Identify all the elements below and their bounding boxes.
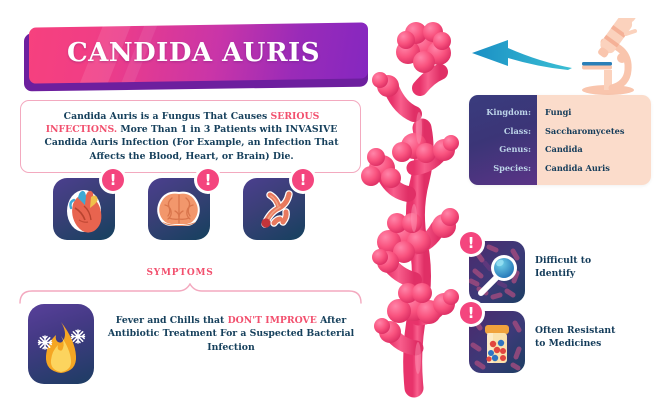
symptom-text-a: Fever and Chills that: [116, 315, 228, 326]
taxonomy-values-column: Fungi Saccharomycetes Candida Candida Au…: [537, 95, 651, 185]
symptom-row: Fever and Chills that DON'T IMPROVE Afte…: [28, 300, 358, 395]
description-box: Candida Auris is a Fungus That Causes SE…: [20, 100, 361, 173]
curved-arrow-left-icon: [468, 36, 574, 70]
alert-badge-resistant: !: [460, 302, 482, 324]
page-title: CANDIDA AURIS: [24, 25, 363, 81]
feature-resistant-line1: Often Resistant: [535, 325, 653, 338]
microscope-icon: [560, 18, 650, 96]
feature-identify-text: Difficult to Identify: [535, 255, 653, 280]
symptoms-label: SYMPTOMS: [130, 268, 230, 278]
taxonomy-table: Kingdom: Class: Genus: Species: Fungi Sa…: [469, 95, 651, 185]
taxonomy-keys-column: Kingdom: Class: Genus: Species:: [469, 95, 537, 185]
magnifier-card[interactable]: !: [469, 241, 525, 303]
feature-difficult-to-identify: ! Difficult to Identify: [469, 241, 654, 303]
feature-resistant-text: Often Resistant to Medicines: [535, 325, 653, 350]
description-line1-plain: Candida Auris is a Fungus That Causes: [64, 111, 271, 122]
taxonomy-key-kingdom: Kingdom:: [473, 103, 531, 122]
alert-badge-vessel: !: [292, 169, 314, 191]
pill-bottle-card[interactable]: !: [469, 311, 525, 373]
taxonomy-value-genus: Candida: [545, 140, 645, 159]
microscope-body: [582, 18, 639, 95]
taxonomy-key-genus: Genus:: [473, 140, 531, 159]
symptom-text: Fever and Chills that DON'T IMPROVE Afte…: [106, 314, 356, 354]
organ-card-brain[interactable]: !: [148, 178, 210, 240]
description-text: Candida Auris is a Fungus That Causes SE…: [29, 110, 354, 163]
organ-card-heart[interactable]: !: [53, 178, 115, 240]
title-banner: CANDIDA AURIS: [24, 25, 368, 85]
feature-identify-line1: Difficult to: [535, 255, 653, 268]
alert-badge-identify: !: [460, 232, 482, 254]
symptom-text-highlight: DON'T IMPROVE: [228, 315, 317, 326]
snowflake-left: [39, 336, 52, 349]
feature-resistant-line2: to Medicines: [535, 338, 653, 351]
bottle-cap: [485, 325, 509, 334]
organ-card-blood-vessel[interactable]: !: [243, 178, 305, 240]
taxonomy-value-kingdom: Fungi: [545, 103, 645, 122]
candida-fungus-illustration: [352, 18, 482, 408]
taxonomy-key-class: Class:: [473, 122, 531, 141]
alert-badge-heart: !: [102, 169, 124, 191]
fever-chills-card[interactable]: [28, 304, 94, 384]
alert-badge-brain: !: [197, 169, 219, 191]
feature-identify-line2: Identify: [535, 268, 653, 281]
feature-often-resistant: ! Often Resistant to Medicines: [469, 311, 654, 373]
taxonomy-key-species: Species:: [473, 159, 531, 178]
fever-chills-icon: [28, 304, 94, 384]
snowflake-right: [72, 330, 85, 343]
taxonomy-value-class: Saccharomycetes: [545, 122, 645, 141]
affected-organs-row: ! !: [53, 178, 305, 240]
taxonomy-value-species: Candida Auris: [545, 159, 645, 178]
